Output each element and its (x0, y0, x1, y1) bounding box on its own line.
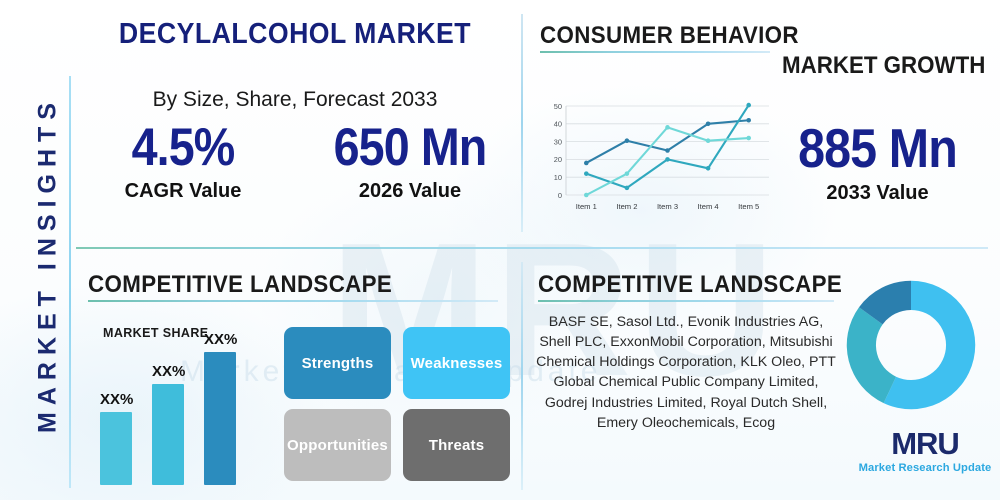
kpi-2033-value: 885 Mn (783, 120, 972, 178)
svg-text:10: 10 (554, 173, 562, 182)
divider-vertical-left (69, 76, 71, 488)
logo-mark-mr: MR (891, 426, 937, 461)
bar-group: XX% (204, 331, 236, 485)
page-title: DECYLALCOHOL MARKET (97, 18, 493, 51)
company-list: BASF SE, Sasol Ltd., Evonik Industries A… (536, 312, 836, 433)
section-heading-competitive-landscape-right: COMPETITIVE LANDSCAPE (538, 271, 842, 299)
section-heading-competitive-landscape-left: COMPETITIVE LANDSCAPE (88, 271, 392, 299)
swot-box-label: Threats (429, 437, 485, 454)
logo-mark: MRU (855, 428, 995, 459)
bar-chart-title: MARKET SHARE (103, 326, 209, 340)
swot-box-threats[interactable]: Threats (403, 409, 510, 481)
divider-vertical-bottom (521, 262, 523, 490)
swot-box-opportunities[interactable]: Opportunities (284, 409, 391, 481)
swot-box-label: Strengths (302, 355, 374, 372)
swot-box-label: Opportunities (287, 437, 388, 454)
divider-horizontal (76, 247, 988, 249)
bar-value-label: XX% (204, 331, 236, 348)
section-heading-market-growth: MARKET GROWTH (782, 52, 968, 80)
svg-text:50: 50 (554, 102, 562, 111)
bar-group: XX% (152, 363, 184, 485)
logo-mark-u: U (937, 426, 958, 461)
section-rule-competitive-landscape-right (538, 300, 834, 302)
bar-rect (100, 412, 132, 485)
kpi-2033: 885 Mn 2033 Value (770, 120, 985, 205)
kpi-2026-value: 650 Mn (313, 120, 507, 176)
logo-mru: MRU Market Research Update (855, 428, 995, 474)
swot-box-weaknesses[interactable]: Weaknesses (403, 327, 510, 399)
kpi-2033-label: 2033 Value (770, 182, 985, 205)
svg-text:Item 5: Item 5 (738, 202, 759, 211)
side-label-market-insights: MARKET INSIGHTS (34, 55, 63, 475)
divider-vertical-top (521, 14, 523, 232)
bar-value-label: XX% (100, 391, 132, 408)
svg-text:0: 0 (558, 191, 562, 200)
svg-text:Item 2: Item 2 (616, 202, 637, 211)
bar-value-label: XX% (152, 363, 184, 380)
kpi-2026-label: 2026 Value (300, 180, 520, 203)
logo-tagline: Market Research Update (855, 462, 995, 474)
svg-text:40: 40 (554, 120, 562, 129)
line-chart-consumer-behavior: 01020304050Item 1Item 2Item 3Item 4Item … (540, 100, 775, 215)
svg-text:Item 1: Item 1 (576, 202, 597, 211)
svg-text:Item 4: Item 4 (698, 202, 719, 211)
page-subtitle: By Size, Share, Forecast 2033 (80, 88, 510, 112)
section-heading-consumer-behavior: CONSUMER BEHAVIOR (540, 22, 799, 50)
svg-text:20: 20 (554, 155, 562, 164)
infographic-canvas: MRU Market Research Update MARKET INSIGH… (0, 0, 1000, 500)
kpi-cagr: 4.5% CAGR Value (78, 120, 288, 203)
bar-chart-market-share: XX%XX%XX% (100, 345, 270, 485)
kpi-2026: 650 Mn 2026 Value (300, 120, 520, 203)
svg-text:30: 30 (554, 137, 562, 146)
swot-box-strengths[interactable]: Strengths (284, 327, 391, 399)
swot-box-label: Weaknesses (411, 355, 503, 372)
donut-chart-market-share (838, 272, 984, 418)
kpi-cagr-label: CAGR Value (78, 180, 288, 203)
bar-rect (152, 384, 184, 485)
bar-group: XX% (100, 391, 132, 485)
bar-rect (204, 352, 236, 485)
section-rule-competitive-landscape-left (88, 300, 498, 302)
kpi-cagr-value: 4.5% (91, 120, 276, 176)
section-rule-consumer-behavior (540, 51, 770, 53)
svg-text:Item 3: Item 3 (657, 202, 678, 211)
